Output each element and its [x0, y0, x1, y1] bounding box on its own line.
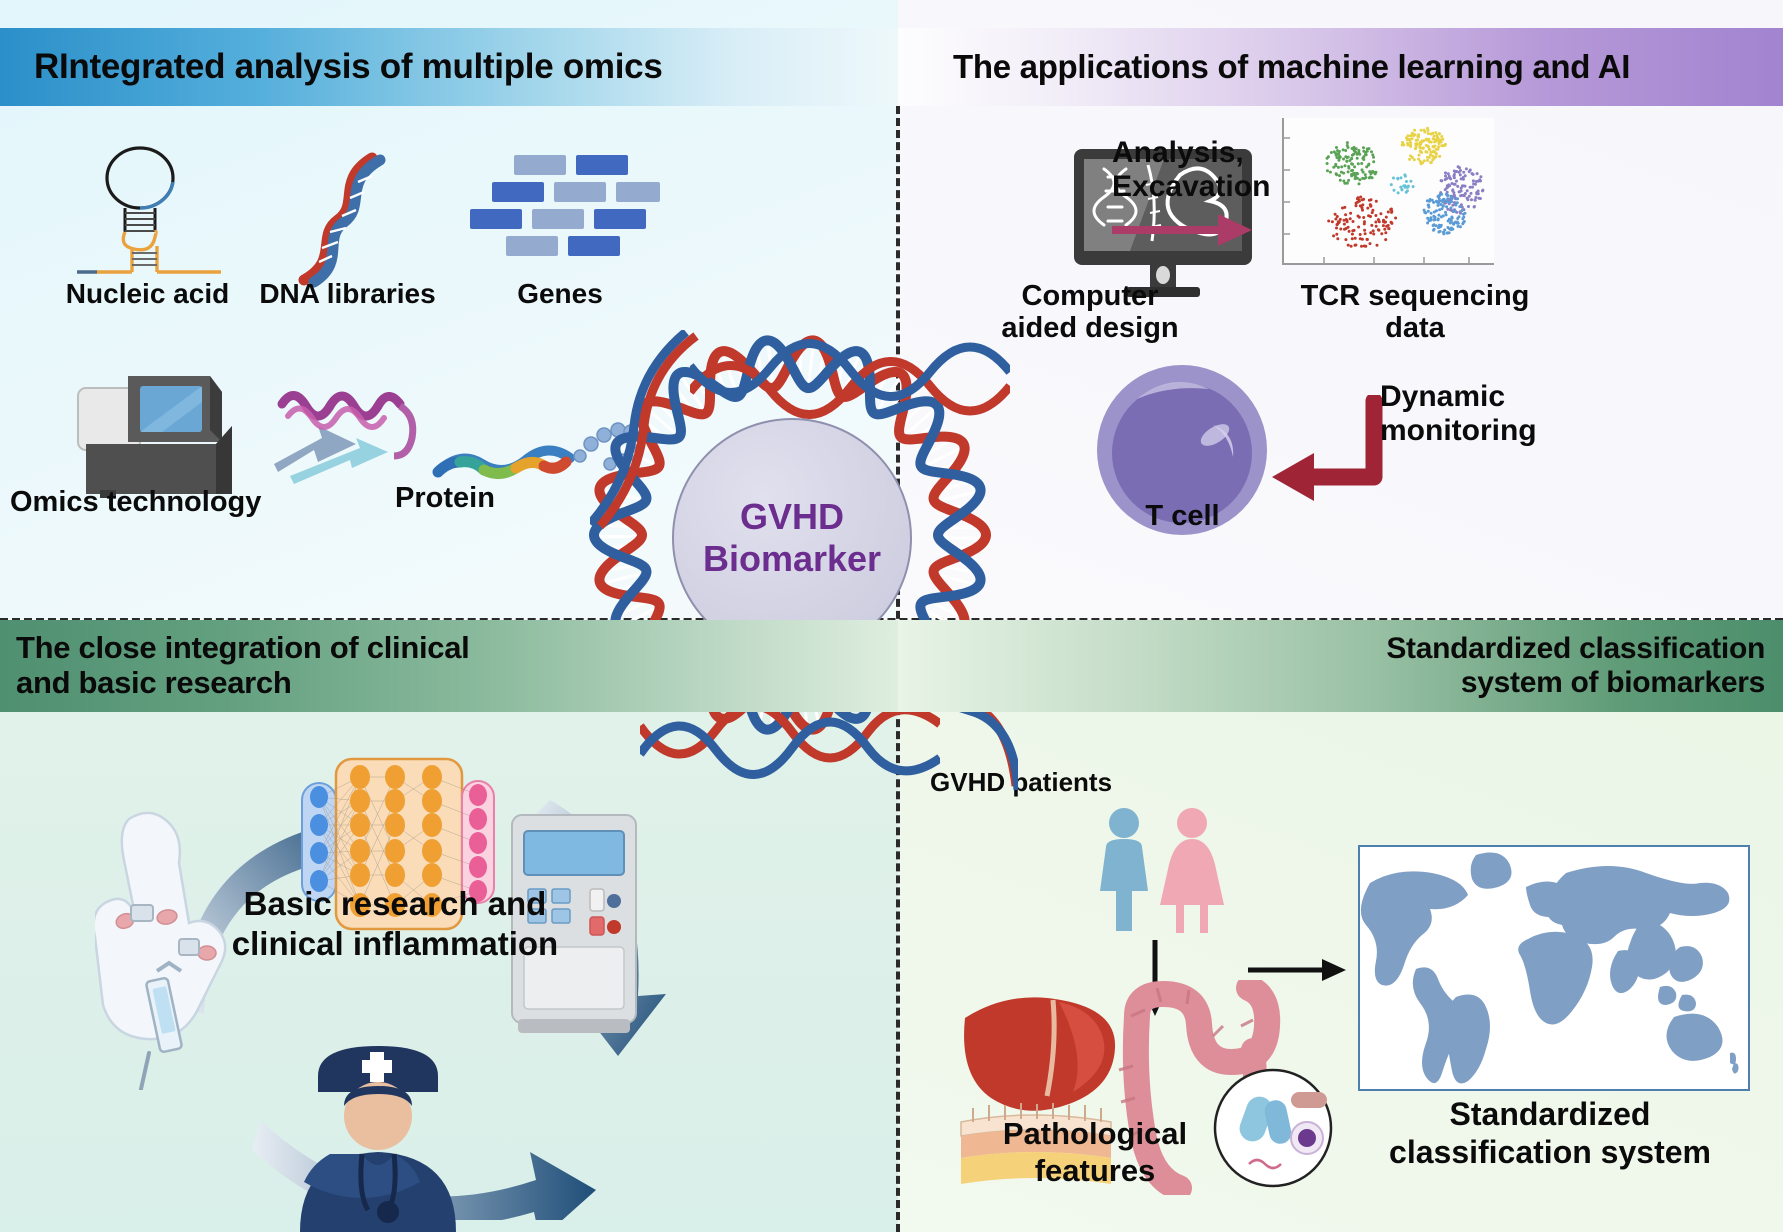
- label-protein: Protein: [330, 482, 560, 514]
- std-class-line2: classification system: [1389, 1134, 1711, 1170]
- banner-machine-learning-ai: The applications of machine learning and…: [898, 28, 1783, 106]
- infographic-figure: Nucleic acid DNA libraries Genes: [0, 0, 1783, 1232]
- label-genes: Genes: [460, 278, 660, 309]
- label-basic-research-clinical-inflammation: Basic research and clinical inflammation: [165, 884, 625, 963]
- pathological-line2: features: [1035, 1153, 1156, 1188]
- banner-standardized-classification: Standardized classification system of bi…: [898, 620, 1783, 712]
- tcr-line1: TCR sequencing: [1301, 280, 1530, 312]
- banner-br-line2: system of biomarkers: [1461, 666, 1765, 699]
- dynamic-line2: monitoring: [1380, 414, 1537, 447]
- classification-arrow-right-icon: [1248, 955, 1348, 985]
- label-standardized-classification-system: Standardized classification system: [1330, 1095, 1770, 1172]
- label-t-cell: T cell: [1095, 500, 1270, 532]
- pathological-line1: Pathological: [1003, 1116, 1187, 1151]
- center-label-line1: GVHD: [740, 496, 844, 537]
- banner-clinical-basic-research: The close integration of clinical and ba…: [0, 620, 898, 712]
- banner-br-line1: Standardized classification: [1386, 632, 1765, 665]
- basic-research-line2: clinical inflammation: [232, 925, 558, 962]
- analysis-arrow-right-icon: [1110, 212, 1255, 248]
- cad-line2: aided design: [1001, 312, 1178, 344]
- rna-stem-loop-icon: [75, 140, 255, 290]
- banner-tr-text: The applications of machine learning and…: [953, 49, 1630, 86]
- dna-helix-icon: [280, 140, 410, 290]
- banner-br-text: Standardized classification system of bi…: [1386, 632, 1765, 699]
- gene-blocks-icon: [470, 155, 660, 270]
- basic-research-line1: Basic research and: [244, 885, 547, 922]
- tcr-line2: data: [1385, 312, 1445, 344]
- dynamic-line1: Dynamic: [1380, 380, 1505, 413]
- cad-line1: Computer: [1022, 280, 1159, 312]
- analysis-line2: Excavation: [1112, 170, 1270, 203]
- dynamic-monitoring-arrow-icon: [1262, 395, 1392, 510]
- dna-bottom-wave-icon: [640, 700, 940, 820]
- sequencer-machine-icon: [70, 360, 280, 500]
- tsne-scatter-icon: [1282, 118, 1494, 265]
- label-tcr-sequencing-data: TCR sequencing data: [1260, 280, 1570, 345]
- label-dna-libraries: DNA libraries: [225, 278, 470, 309]
- doctor-icon: [278, 1020, 478, 1232]
- label-dynamic-monitoring: Dynamic monitoring: [1380, 380, 1660, 447]
- std-class-line1: Standardized: [1450, 1096, 1651, 1132]
- dna-top-wave-icon: [690, 330, 1010, 420]
- analysis-line1: Analysis,: [1112, 136, 1244, 169]
- banner-bl-text: The close integration of clinical and ba…: [16, 631, 469, 700]
- banner-bl-line2: and basic research: [16, 665, 291, 700]
- center-label-line2: Biomarker: [703, 538, 881, 579]
- protein-ribbon-icon: [260, 360, 640, 490]
- banner-integrated-omics: RIntegrated analysis of multiple omics: [0, 28, 898, 106]
- label-pathological-features: Pathological features: [930, 1115, 1260, 1189]
- banner-bl-line1: The close integration of clinical: [16, 630, 469, 665]
- world-map-icon: [1358, 845, 1750, 1091]
- label-omics-technology: Omics technology: [10, 486, 340, 518]
- patient-pair-icon: [1092, 805, 1232, 935]
- banner-tl-text: RIntegrated analysis of multiple omics: [34, 47, 662, 86]
